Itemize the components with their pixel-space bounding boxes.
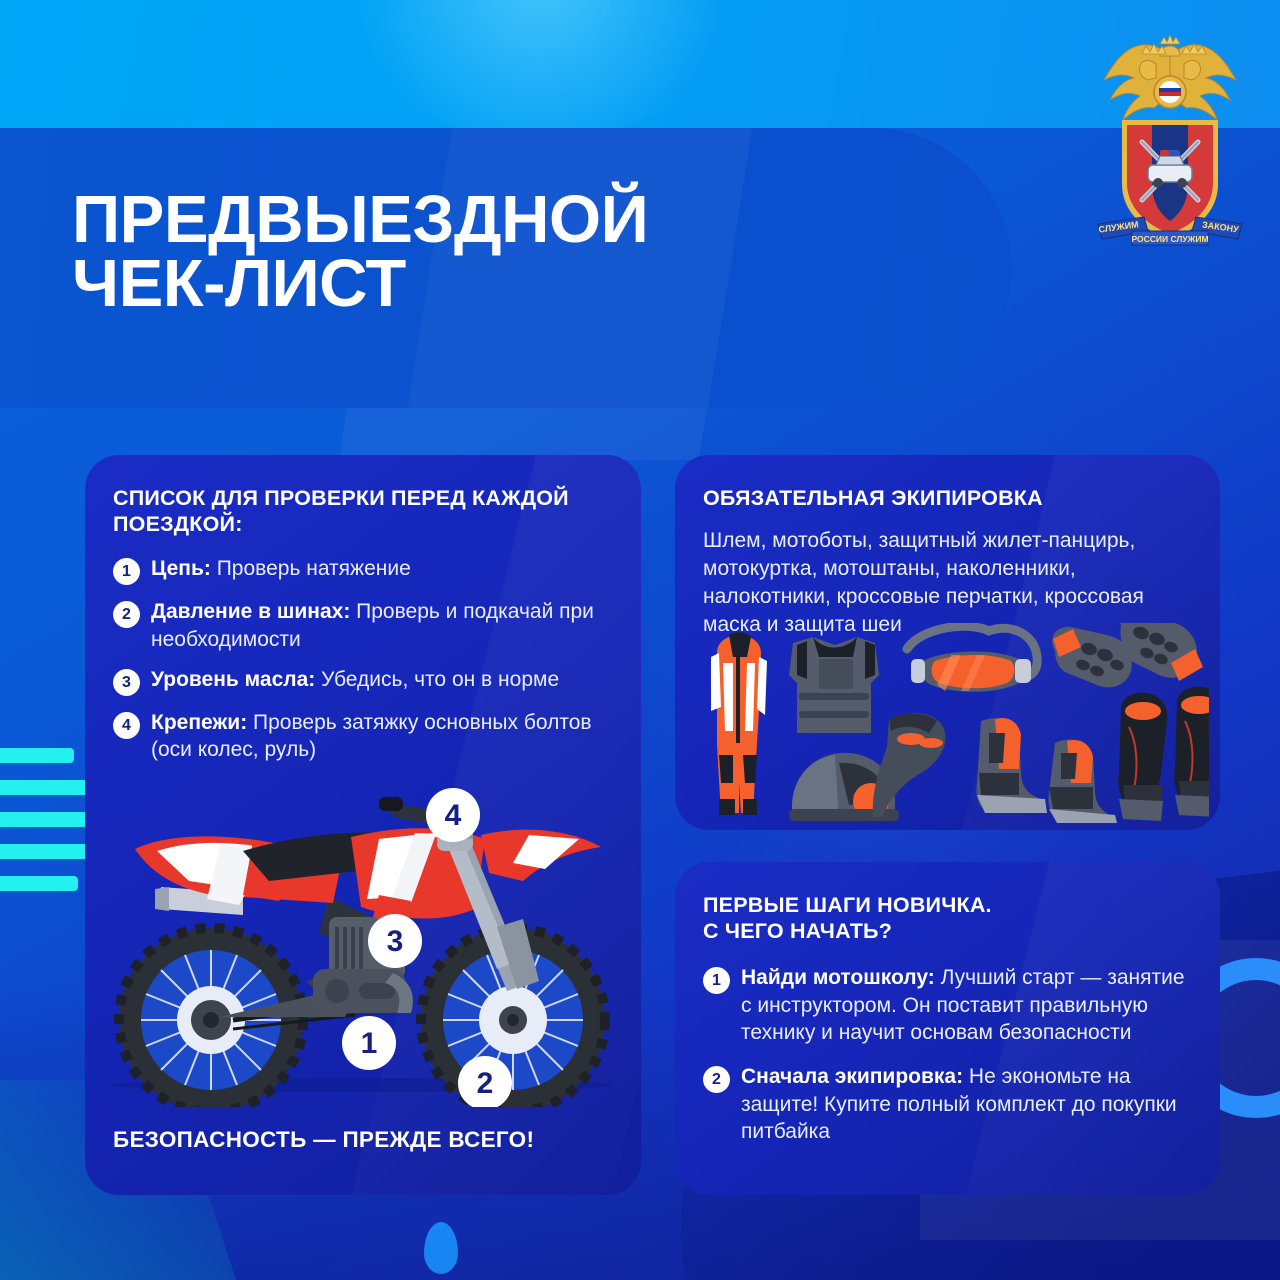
- list-number-badge: 1: [113, 558, 140, 585]
- list-item: 1 Цепь: Проверь натяжение: [113, 555, 617, 585]
- list-item-desc: Проверь натяжение: [211, 557, 411, 580]
- list-item-term: Цепь:: [151, 557, 211, 580]
- gloves-icon: [1052, 623, 1203, 687]
- list-item: 2 Сначала экипировка: Не экономьте на за…: [703, 1063, 1194, 1145]
- list-item-text: Давление в шинах: Проверь и подкачай при…: [151, 598, 617, 653]
- infographic-poster: ПРЕДВЫЕЗДНОЙ ЧЕК-ЛИСТ: [0, 0, 1280, 1280]
- svg-text:1: 1: [361, 1027, 378, 1060]
- gear-card-title: ОБЯЗАТЕЛЬНАЯ ЭКИПИРОВКА: [703, 485, 1196, 511]
- emblem-motto-center: РОССИИ СЛУЖИМ: [1131, 234, 1208, 244]
- boots-icon: [977, 718, 1118, 823]
- gear-card: ОБЯЗАТЕЛЬНАЯ ЭКИПИРОВКА Шлем, мотоботы, …: [675, 455, 1220, 830]
- list-item: 4 Крепежи: Проверь затяжку основных болт…: [113, 709, 617, 764]
- checklist-card: СПИСОК ДЛЯ ПРОВЕРКИ ПЕРЕД КАЖДОЙ ПОЕЗДКО…: [85, 455, 641, 1195]
- page-title: ПРЕДВЫЕЗДНОЙ ЧЕК-ЛИСТ: [72, 188, 952, 317]
- chest-protector-icon: [789, 637, 879, 733]
- safety-slogan: БЕЗОПАСНОСТЬ — ПРЕЖДЕ ВСЕГО!: [113, 1127, 534, 1153]
- list-item: 2 Давление в шинах: Проверь и подкачай п…: [113, 598, 617, 653]
- checklist-card-title: СПИСОК ДЛЯ ПРОВЕРКИ ПЕРЕД КАЖДОЙ ПОЕЗДКО…: [113, 485, 617, 537]
- list-number-badge: 1: [703, 967, 730, 994]
- list-number-badge: 3: [113, 669, 140, 696]
- list-number-badge: 2: [703, 1066, 730, 1093]
- first-steps-card: ПЕРВЫЕ ШАГИ НОВИЧКА. С ЧЕГО НАЧАТЬ? 1 На…: [675, 862, 1220, 1195]
- racing-suit-icon: [711, 632, 767, 815]
- list-item: 3 Уровень масла: Убедись, что он в норме: [113, 666, 617, 696]
- list-item-text: Уровень масла: Убедись, что он в норме: [151, 666, 559, 693]
- first-steps-card-title: ПЕРВЫЕ ШАГИ НОВИЧКА. С ЧЕГО НАЧАТЬ?: [703, 892, 1194, 944]
- list-item-term: Найди мотошколу:: [741, 966, 935, 989]
- svg-text:4: 4: [445, 799, 462, 832]
- dirt-bike-illustration: 1 2 3 4: [93, 777, 633, 1107]
- rear-wheel: [119, 928, 303, 1107]
- list-item-term: Давление в шинах:: [151, 600, 350, 623]
- goggles-icon: [907, 626, 1037, 691]
- bike-callout-1: 1: [342, 1016, 396, 1070]
- list-number-badge: 2: [113, 601, 140, 628]
- list-item-desc: Убедись, что он в норме: [315, 668, 559, 691]
- list-item-text: Найди мотошколу: Лучший старт — занятие …: [741, 964, 1194, 1046]
- neck-brace-icon: [873, 713, 946, 817]
- list-item-text: Цепь: Проверь натяжение: [151, 555, 411, 582]
- first-steps-items: 1 Найди мотошколу: Лучший старт — заняти…: [703, 964, 1194, 1145]
- bike-callout-4: 4: [426, 788, 480, 842]
- list-item: 1 Найди мотошколу: Лучший старт — заняти…: [703, 964, 1194, 1046]
- list-number-badge: 4: [113, 712, 140, 739]
- list-item-term: Уровень масла:: [151, 668, 315, 691]
- checklist-items: 1 Цепь: Проверь натяжение 2 Давление в ш…: [113, 555, 617, 763]
- list-item-term: Сначала экипировка:: [741, 1065, 963, 1088]
- mvd-emblem-icon: СЛУЖИМ ЗАКОНУ РОССИИ СЛУЖИМ: [1086, 34, 1254, 248]
- knee-pads-icon: [1118, 687, 1209, 821]
- list-item-text: Сначала экипировка: Не экономьте на защи…: [741, 1063, 1194, 1145]
- svg-text:2: 2: [477, 1067, 494, 1100]
- bike-callout-3: 3: [368, 914, 422, 968]
- list-item-text: Крепежи: Проверь затяжку основных болтов…: [151, 709, 617, 764]
- gear-illustration: [689, 623, 1209, 823]
- svg-text:3: 3: [387, 925, 404, 958]
- list-item-term: Крепежи:: [151, 711, 247, 734]
